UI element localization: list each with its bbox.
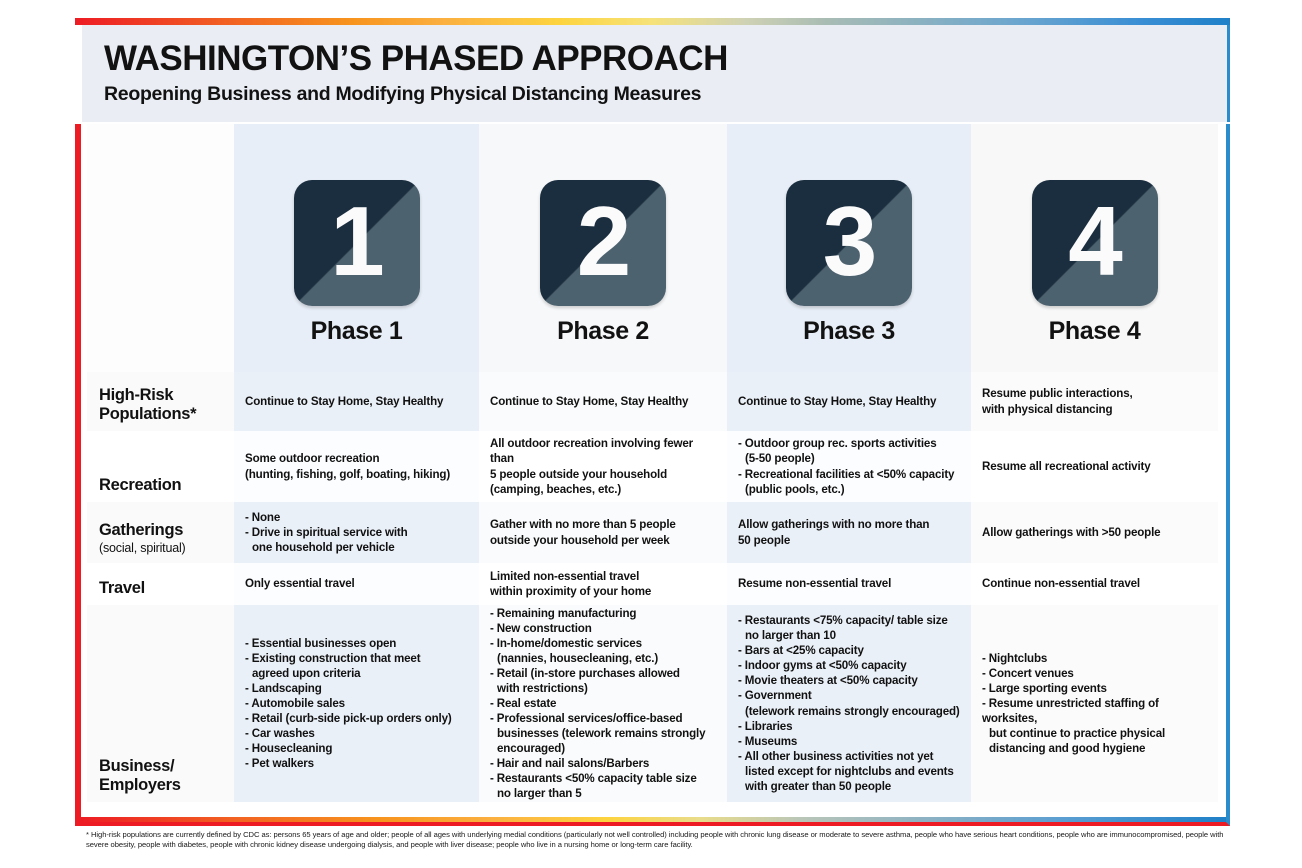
cell-line: - New construction xyxy=(490,621,705,636)
cell-line: Allow gatherings with no more than xyxy=(738,517,929,532)
cell-line: Gather with no more than 5 people xyxy=(490,517,676,532)
row-title2-0: Populations* xyxy=(99,405,196,423)
cell-line: - Concert venues xyxy=(982,666,1210,681)
cell-line: - Resume unrestricted staffing of worksi… xyxy=(982,696,1210,726)
cell-text: Some outdoor recreation(hunting, fishing… xyxy=(245,451,450,481)
cell-text: Allow gatherings with >50 people xyxy=(982,525,1160,540)
row-title-4: Business/ xyxy=(99,757,174,775)
cell-line: Only essential travel xyxy=(245,576,355,591)
cell-text: Limited non-essential travelwithin proxi… xyxy=(490,569,651,599)
cell-r3-p4: Continue non-essential travel xyxy=(971,563,1218,605)
cell-text: - Nightclubs- Concert venues- Large spor… xyxy=(982,651,1210,756)
cell-line: - Restaurants <75% capacity/ table size xyxy=(738,613,960,628)
row-subtitle-2: (social, spiritual) xyxy=(99,541,186,555)
cell-line: - Real estate xyxy=(490,696,705,711)
cell-r3-p3: Resume non-essential travel xyxy=(727,563,971,605)
poster-body: 1Phase 12Phase 23Phase 34Phase 4High-Ris… xyxy=(75,124,1230,826)
header-corner xyxy=(87,124,234,372)
cell-line: - Indoor gyms at <50% capacity xyxy=(738,658,960,673)
cell-line: - Professional services/office-based xyxy=(490,711,705,726)
row-title-3: Travel xyxy=(99,579,145,597)
cell-r0-p4: Resume public interactions,with physical… xyxy=(971,372,1218,431)
cell-line: (telework remains strongly encouraged) xyxy=(738,704,960,719)
row-title-1: Recreation xyxy=(99,476,181,494)
cell-line: - Hair and nail salons/Barbers xyxy=(490,756,705,771)
cell-line: agreed upon criteria xyxy=(245,666,452,681)
cell-text: Continue to Stay Home, Stay Healthy xyxy=(490,394,688,409)
cell-r4-p1: - Essential businesses open- Existing co… xyxy=(234,605,479,802)
cell-line: - Government xyxy=(738,688,960,703)
cell-line: - In-home/domestic services xyxy=(490,636,705,651)
cell-line: Continue to Stay Home, Stay Healthy xyxy=(738,394,936,409)
cell-r2-p2: Gather with no more than 5 peopleoutside… xyxy=(479,502,727,563)
phase-number-4: 4 xyxy=(1032,180,1158,306)
cell-r0-p2: Continue to Stay Home, Stay Healthy xyxy=(479,372,727,431)
cell-line: All outdoor recreation involving fewer t… xyxy=(490,436,719,466)
row-label-0: High-RiskPopulations* xyxy=(87,372,234,431)
cell-line: - Landscaping xyxy=(245,681,452,696)
cell-text: Continue to Stay Home, Stay Healthy xyxy=(738,394,936,409)
cell-line: Continue to Stay Home, Stay Healthy xyxy=(245,394,443,409)
cell-line: encouraged) xyxy=(490,741,705,756)
cell-r1-p1: Some outdoor recreation(hunting, fishing… xyxy=(234,431,479,502)
cell-line: within proximity of your home xyxy=(490,584,651,599)
cell-text: Only essential travel xyxy=(245,576,355,591)
cell-r2-p4: Allow gatherings with >50 people xyxy=(971,502,1218,563)
cell-text: Gather with no more than 5 peopleoutside… xyxy=(490,517,676,547)
cell-line: 50 people xyxy=(738,533,929,548)
cell-line: Resume public interactions, xyxy=(982,386,1133,401)
phase-tile-1: 1 xyxy=(294,180,420,306)
cell-line: - All other business activities not yet xyxy=(738,749,960,764)
cell-line: businesses (telework remains strongly xyxy=(490,726,705,741)
cell-line: Resume all recreational activity xyxy=(982,459,1151,474)
cell-text: - Restaurants <75% capacity/ table sizen… xyxy=(738,613,960,794)
cell-r1-p2: All outdoor recreation involving fewer t… xyxy=(479,431,727,502)
cell-line: - Retail (curb-side pick-up orders only) xyxy=(245,711,452,726)
gradient-rule-bottom xyxy=(81,817,1226,822)
phase-label-1: Phase 1 xyxy=(311,317,403,346)
cell-text: Allow gatherings with no more than50 peo… xyxy=(738,517,929,547)
cell-line: - None xyxy=(245,510,408,525)
gradient-rule-top xyxy=(75,18,1230,25)
poster-header: WASHINGTON’S PHASED APPROACH Reopening B… xyxy=(82,25,1230,122)
cell-line: - Restaurants <50% capacity table size xyxy=(490,771,705,786)
cell-line: one household per vehicle xyxy=(245,540,408,555)
cell-line: - Large sporting events xyxy=(982,681,1210,696)
cell-line: - Recreational facilities at <50% capaci… xyxy=(738,467,954,482)
page-subtitle: Reopening Business and Modifying Physica… xyxy=(104,83,1227,106)
row-label-4: Business/Employers xyxy=(87,605,234,802)
cell-line: no larger than 5 xyxy=(490,786,705,801)
cell-r0-p1: Continue to Stay Home, Stay Healthy xyxy=(234,372,479,431)
cell-text: Resume all recreational activity xyxy=(982,459,1151,474)
cell-line: - Outdoor group rec. sports activities xyxy=(738,436,954,451)
cell-text: - Essential businesses open- Existing co… xyxy=(245,636,452,772)
cell-text: Continue non-essential travel xyxy=(982,576,1140,591)
cell-text: - Remaining manufacturing- New construct… xyxy=(490,606,705,802)
cell-line: - Remaining manufacturing xyxy=(490,606,705,621)
phase-number-1: 1 xyxy=(294,180,420,306)
cell-line: - Libraries xyxy=(738,719,960,734)
cell-line: - Automobile sales xyxy=(245,696,452,711)
cell-line: - Housecleaning xyxy=(245,741,452,756)
cell-text: Continue to Stay Home, Stay Healthy xyxy=(245,394,443,409)
cell-line: - Essential businesses open xyxy=(245,636,452,651)
cell-text: Resume non-essential travel xyxy=(738,576,891,591)
phase-header-3: 3Phase 3 xyxy=(727,124,971,372)
row-label-3: Travel xyxy=(87,563,234,605)
phase-label-4: Phase 4 xyxy=(1049,317,1141,346)
cell-line: Continue to Stay Home, Stay Healthy xyxy=(490,394,688,409)
cell-r1-p3: - Outdoor group rec. sports activities(5… xyxy=(727,431,971,502)
cell-line: - Museums xyxy=(738,734,960,749)
cell-line: Some outdoor recreation xyxy=(245,451,450,466)
cell-line: - Retail (in-store purchases allowed xyxy=(490,666,705,681)
cell-r4-p4: - Nightclubs- Concert venues- Large spor… xyxy=(971,605,1218,802)
phase-tile-4: 4 xyxy=(1032,180,1158,306)
row-label-1: Recreation xyxy=(87,431,234,502)
cell-line: no larger than 10 xyxy=(738,628,960,643)
cell-line: - Nightclubs xyxy=(982,651,1210,666)
cell-line: distancing and good hygiene xyxy=(982,741,1210,756)
cell-line: - Drive in spiritual service with xyxy=(245,525,408,540)
footnote: * High-risk populations are currently de… xyxy=(86,830,1226,850)
row-title-2: Gatherings xyxy=(99,521,183,539)
page-title: WASHINGTON’S PHASED APPROACH xyxy=(104,41,1227,76)
cell-line: - Movie theaters at <50% capacity xyxy=(738,673,960,688)
phase-header-1: 1Phase 1 xyxy=(234,124,479,372)
cell-text: All outdoor recreation involving fewer t… xyxy=(490,436,719,496)
cell-r0-p3: Continue to Stay Home, Stay Healthy xyxy=(727,372,971,431)
cell-r3-p1: Only essential travel xyxy=(234,563,479,605)
cell-line: (hunting, fishing, golf, boating, hiking… xyxy=(245,467,450,482)
cell-line: but continue to practice physical xyxy=(982,726,1210,741)
cell-line: 5 people outside your household xyxy=(490,467,719,482)
cell-r1-p4: Resume all recreational activity xyxy=(971,431,1218,502)
cell-r4-p3: - Restaurants <75% capacity/ table sizen… xyxy=(727,605,971,802)
row-label-2: Gatherings(social, spiritual) xyxy=(87,502,234,563)
cell-line: (nannies, housecleaning, etc.) xyxy=(490,651,705,666)
cell-line: (camping, beaches, etc.) xyxy=(490,482,719,497)
cell-line: - Bars at <25% capacity xyxy=(738,643,960,658)
cell-line: Continue non-essential travel xyxy=(982,576,1140,591)
cell-line: (5-50 people) xyxy=(738,451,954,466)
cell-line: - Pet walkers xyxy=(245,756,452,771)
row-title2-4: Employers xyxy=(99,776,181,794)
phase-number-2: 2 xyxy=(540,180,666,306)
phase-header-2: 2Phase 2 xyxy=(479,124,727,372)
phase-label-3: Phase 3 xyxy=(803,317,895,346)
phase-tile-2: 2 xyxy=(540,180,666,306)
cell-line: with physical distancing xyxy=(982,402,1133,417)
cell-line: - Car washes xyxy=(245,726,452,741)
cell-text: Resume public interactions,with physical… xyxy=(982,386,1133,416)
cell-line: Limited non-essential travel xyxy=(490,569,651,584)
phase-tile-3: 3 xyxy=(786,180,912,306)
cell-line: - Existing construction that meet xyxy=(245,651,452,666)
cell-line: listed except for nightclubs and events xyxy=(738,764,960,779)
phase-header-4: 4Phase 4 xyxy=(971,124,1218,372)
cell-r2-p3: Allow gatherings with no more than50 peo… xyxy=(727,502,971,563)
cell-r2-p1: - None- Drive in spiritual service witho… xyxy=(234,502,479,563)
poster: WASHINGTON’S PHASED APPROACH Reopening B… xyxy=(75,18,1230,826)
phase-matrix: 1Phase 12Phase 23Phase 34Phase 4High-Ris… xyxy=(87,124,1232,822)
cell-r4-p2: - Remaining manufacturing- New construct… xyxy=(479,605,727,802)
cell-line: Allow gatherings with >50 people xyxy=(982,525,1160,540)
row-title-0: High-Risk xyxy=(99,386,173,404)
cell-line: Resume non-essential travel xyxy=(738,576,891,591)
cell-line: outside your household per week xyxy=(490,533,676,548)
cell-text: - Outdoor group rec. sports activities(5… xyxy=(738,436,954,496)
cell-line: with greater than 50 people xyxy=(738,779,960,794)
phase-number-3: 3 xyxy=(786,180,912,306)
cell-line: with restrictions) xyxy=(490,681,705,696)
cell-text: - None- Drive in spiritual service witho… xyxy=(245,510,408,555)
phase-label-2: Phase 2 xyxy=(557,317,649,346)
cell-line: (public pools, etc.) xyxy=(738,482,954,497)
cell-r3-p2: Limited non-essential travelwithin proxi… xyxy=(479,563,727,605)
